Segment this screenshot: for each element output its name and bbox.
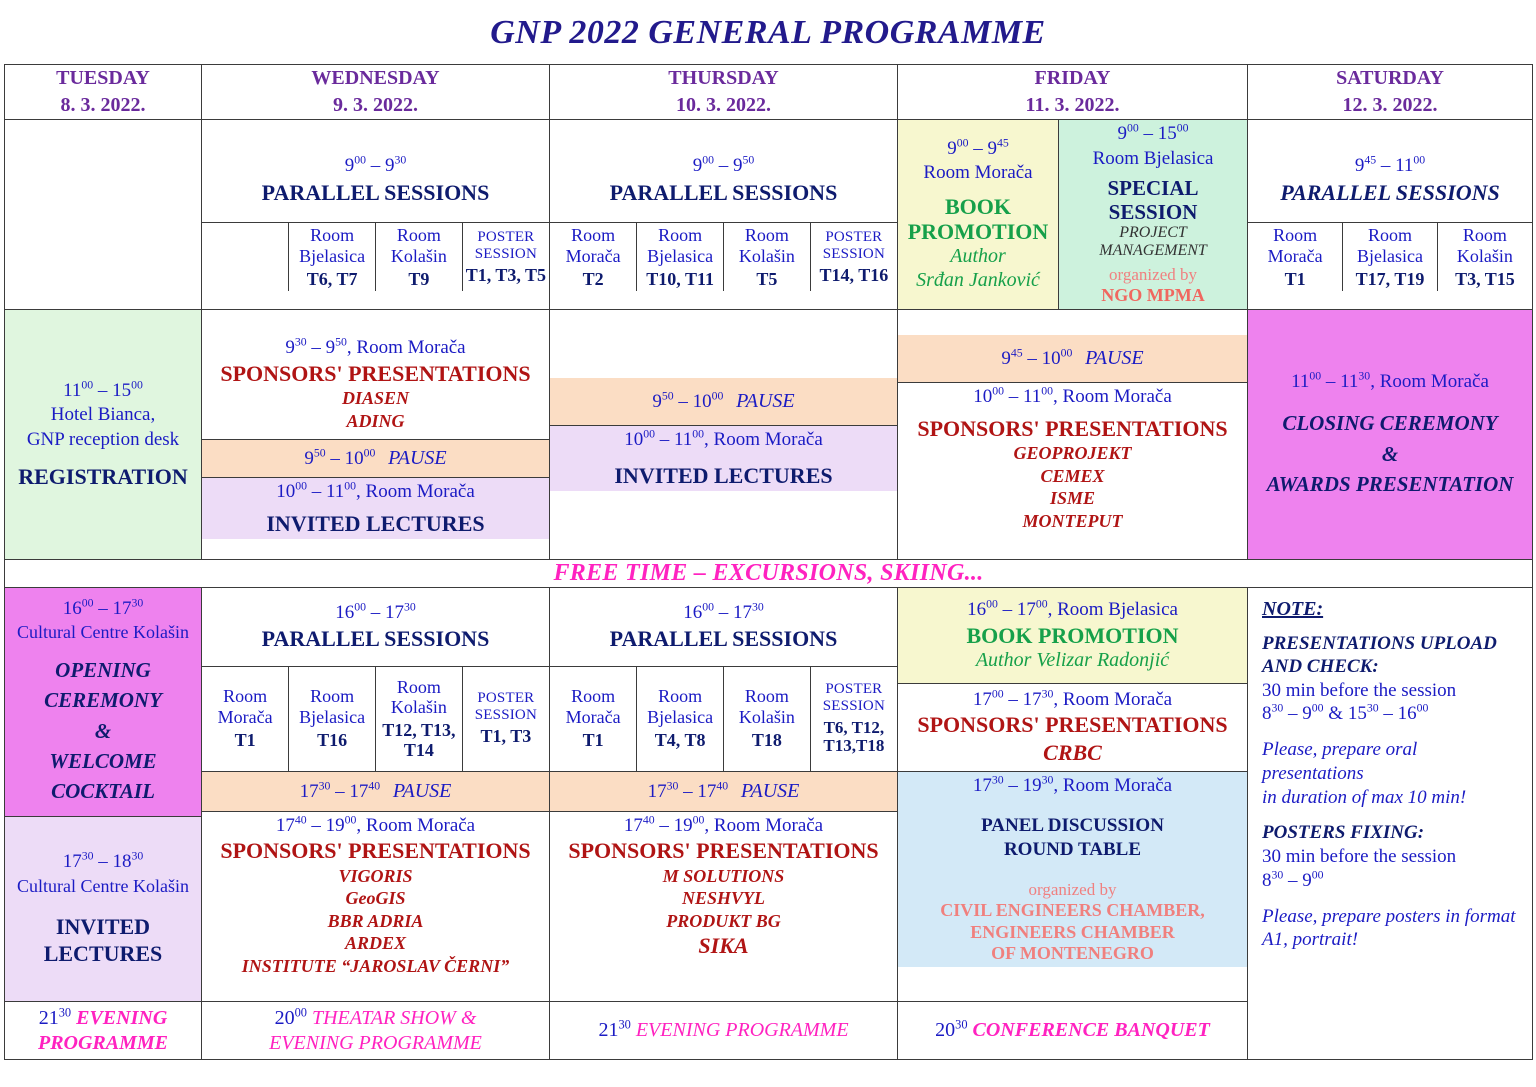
special-session-heading: SPECIAL SESSION <box>1061 176 1245 224</box>
tuesday-registration[interactable]: 1100 – 1500 Hotel Bianca, GNP reception … <box>5 310 202 560</box>
free-time-row: FREE TIME – EXCURSIONS, SKIING... <box>5 560 1533 588</box>
fri-book-promotion-2[interactable]: 1600 – 1700, Room Bjelasica BOOK PROMOTI… <box>898 588 1247 683</box>
topic-codes: T1, T3, T5 <box>465 263 547 286</box>
day-name: TUESDAY <box>5 65 201 92</box>
time-range: 1000 – 1100, Room Morača <box>900 385 1245 410</box>
book-promotion-heading: BOOK PROMOTION <box>900 194 1056 245</box>
topic-codes: T4, T8 <box>639 728 721 751</box>
note-heading-upload: PRESENTATIONS UPLOAD AND CHECK: <box>1262 633 1518 679</box>
thu-sponsors-2[interactable]: 1740 – 1900, Room Morača SPONSORS' PRESE… <box>550 811 897 962</box>
time-range: 1100 – 1130, Room Morača <box>1248 370 1532 395</box>
evening-label-line1: THEATAR SHOW & <box>312 1007 476 1029</box>
tuesday-evening: 2130 EVENING PROGRAMME <box>5 1002 202 1060</box>
day-name: SATURDAY <box>1248 65 1532 92</box>
day-date: 10. 3. 2022. <box>550 92 897 119</box>
topic-codes: T6, T7 <box>291 267 373 290</box>
time-range: 1600 – 1730 <box>204 601 547 626</box>
fri-sponsors-2[interactable]: 1700 – 1730, Room Morača SPONSORS' PRESE… <box>898 683 1247 771</box>
friday-evening: 2030 CONFERENCE BANQUET <box>898 1002 1248 1060</box>
sponsors-heading: SPONSORS' PRESENTATIONS <box>552 838 895 864</box>
time-range: 1600 – 1700, Room Bjelasica <box>900 598 1245 623</box>
thursday-evening: 2130 EVENING PROGRAMME <box>550 1002 898 1060</box>
wed-room-empty <box>202 223 289 292</box>
wed-poster-session[interactable]: POSTER SESSION T1, T3, T5 <box>462 223 549 292</box>
programme-page: GNP 2022 GENERAL PROGRAMME TUESDAY 8. 3.… <box>0 0 1536 1087</box>
day-header-tuesday: TUESDAY 8. 3. 2022. <box>5 65 202 120</box>
time-range: 1730 – 1830 <box>7 850 199 875</box>
wednesday-evening: 2000 THEATAR SHOW & EVENING PROGRAMME <box>202 1002 550 1060</box>
tuesday-opening-ceremony[interactable]: 1600 – 1730 Cultural Centre Kolašin OPEN… <box>5 588 201 816</box>
day-header-thursday: THURSDAY 10. 3. 2022. <box>550 65 898 120</box>
friday-midmorning-block: 945 – 1000 PAUSE 1000 – 1100, Room Morač… <box>898 310 1248 560</box>
day-name: WEDNESDAY <box>202 65 549 92</box>
topic-codes: T16 <box>291 728 373 751</box>
day-name: FRIDAY <box>898 65 1247 92</box>
evening-label: EVENING PROGRAMME <box>636 1019 849 1041</box>
thu-pm-parallel-header: 1600 – 1730 PARALLEL SESSIONS <box>550 588 897 666</box>
evening-label: CONFERENCE BANQUET <box>973 1019 1210 1041</box>
afternoon-row: 1600 – 1730 Cultural Centre Kolašin OPEN… <box>5 588 1533 1002</box>
wed-pm-room-bjelasica[interactable]: Room Bjelasica T16 <box>289 666 376 771</box>
pause-label: PAUSE <box>728 390 795 412</box>
wed-pm-room-moraca[interactable]: Room Morača T1 <box>202 666 289 771</box>
book-author: Author Srđan Janković <box>900 244 1056 292</box>
tuesday-morning-empty <box>5 120 202 310</box>
topic-codes: T9 <box>378 267 460 290</box>
saturday-closing-ceremony[interactable]: 1100 – 1130, Room Morača CLOSING CEREMON… <box>1248 310 1533 560</box>
venue-line2: GNP reception desk <box>5 428 201 453</box>
sat-parallel-header: 945 – 1100 PARALLEL SESSIONS <box>1248 138 1532 223</box>
time-range: 900 – 950 <box>552 154 895 179</box>
fri-pause-1: 945 – 1000 PAUSE <box>898 335 1247 383</box>
topic-codes: T1 <box>204 728 286 751</box>
time-range: 1600 – 1730 <box>552 601 895 626</box>
thu-pm-room-moraca[interactable]: Room Morača T1 <box>550 666 637 771</box>
programme-table: TUESDAY 8. 3. 2022. WEDNESDAY 9. 3. 2022… <box>4 64 1533 1060</box>
topic-codes: T14, T16 <box>813 263 895 286</box>
sponsor-name: SIKA <box>552 932 895 960</box>
sponsor-name: NESHVYL <box>552 887 895 910</box>
note-upload-text: 30 min before the session <box>1262 679 1518 703</box>
wed-parallel-header: 900 – 930 PARALLEL SESSIONS <box>202 138 549 223</box>
topic-codes: T1, T3 <box>465 724 547 747</box>
friday-book-promotion[interactable]: 900 – 945 Room Morača BOOK PROMOTION Aut… <box>898 120 1059 308</box>
session-heading: PARALLEL SESSIONS <box>552 179 895 207</box>
opening-ceremony-text: OPENING CEREMONY & WELCOME COCKTAIL <box>7 655 199 807</box>
room-line2: Bjelasica <box>299 246 365 266</box>
sponsor-name: GEOPROJEKT <box>900 442 1245 465</box>
sponsor-name: ISME <box>900 487 1245 510</box>
day-date: 8. 3. 2022. <box>5 92 201 119</box>
topic-codes: T1 <box>1250 267 1340 290</box>
page-title: GNP 2022 GENERAL PROGRAMME <box>0 0 1536 64</box>
sponsor-name: BBR ADRIA <box>204 910 547 933</box>
wed-invited-lectures[interactable]: 1000 – 1100, Room Morača INVITED LECTURE… <box>202 478 549 540</box>
wed-sponsors-1[interactable]: 930 – 950, Room Morača SPONSORS' PRESENT… <box>202 330 549 440</box>
note-posters-text: 30 min before the session <box>1262 845 1518 869</box>
thu-parallel-header: 900 – 950 PARALLEL SESSIONS <box>550 138 897 223</box>
time-range: 1100 – 1500 <box>5 379 201 404</box>
tuesday-afternoon-block: 1600 – 1730 Cultural Centre Kolašin OPEN… <box>5 588 202 1002</box>
topic-codes: T2 <box>552 267 634 290</box>
registration-heading: REGISTRATION <box>5 463 201 491</box>
topic-codes: T12, T13, T14 <box>378 718 460 761</box>
topic-codes: T5 <box>726 267 808 290</box>
panel-organizer-block: organized by CIVIL ENGINEERS CHAMBER, EN… <box>900 880 1245 965</box>
time-range: 900 – 945 <box>900 137 1056 162</box>
book-author: Author Velizar Radonjić <box>900 648 1245 672</box>
note-heading-posters: POSTERS FIXING: <box>1262 822 1518 845</box>
venue: Room Bjelasica <box>1061 147 1245 172</box>
thu-pause-1: 950 – 1000 PAUSE <box>550 378 897 426</box>
sponsor-name: CEMEX <box>900 465 1245 488</box>
wed-sponsors-2[interactable]: 1740 – 1900, Room Morača SPONSORS' PRESE… <box>202 811 549 979</box>
thu-poster-session[interactable]: POSTER SESSION T14, T16 <box>810 223 897 292</box>
pause-label: PAUSE <box>385 780 452 802</box>
thu-pm-poster-session[interactable]: POSTER SESSION T6, T12, T13,T18 <box>810 666 897 771</box>
sponsor-name: M SOLUTIONS <box>552 865 895 888</box>
saturday-note-block: NOTE: PRESENTATIONS UPLOAD AND CHECK: 30… <box>1248 588 1533 1060</box>
thu-invited-lectures[interactable]: 1000 – 1100, Room Morača INVITED LECTURE… <box>550 426 897 492</box>
sponsor-name: PRODUKT BG <box>552 910 895 933</box>
time-range: 1740 – 1900, Room Morača <box>204 814 547 839</box>
note-title: NOTE: <box>1262 598 1518 621</box>
organizer-block: organized by NGO MPMA <box>1061 265 1245 307</box>
venue: Cultural Centre Kolašin <box>7 875 199 898</box>
sponsors-heading: SPONSORS' PRESENTATIONS <box>900 416 1245 442</box>
thu-room-kolasin[interactable]: Room Kolašin T5 <box>724 223 811 292</box>
mid-morning-row: 1100 – 1500 Hotel Bianca, GNP reception … <box>5 310 1533 560</box>
thu-pm-room-kolasin[interactable]: Room Kolašin T18 <box>724 666 811 771</box>
topic-codes: T1 <box>552 728 634 751</box>
wed-room-bjelasica[interactable]: Room Bjelasica T6, T7 <box>289 223 376 292</box>
time-range: 930 – 950, Room Morača <box>204 336 547 361</box>
venue-line1: Hotel Bianca, <box>5 403 201 428</box>
invited-lectures-heading: INVITED LECTURES <box>552 463 895 489</box>
topic-codes: T6, T12, T13,T18 <box>813 716 895 756</box>
time-range: 945 – 1100 <box>1250 154 1530 179</box>
thu-room-moraca[interactable]: Room Morača T2 <box>550 223 637 292</box>
day-date: 12. 3. 2022. <box>1248 92 1532 119</box>
sat-room-bjelasica[interactable]: Room Bjelasica T17, T19 <box>1343 223 1438 292</box>
sponsor-name: DIASEN <box>204 387 547 410</box>
session-heading: PARALLEL SESSIONS <box>204 179 547 207</box>
invited-lectures-heading: INVITED LECTURES <box>204 511 547 537</box>
thu-pause-2: 1730 – 1740 PAUSE <box>550 771 897 811</box>
sponsor-name: ARDEX <box>204 932 547 955</box>
organizer-name-line3: OF MONTENEGRO <box>900 943 1245 965</box>
wed-pm-poster-session[interactable]: POSTER SESSION T1, T3 <box>462 666 549 771</box>
sponsor-name: ADING <box>204 410 547 433</box>
day-header-friday: FRIDAY 11. 3. 2022. <box>898 65 1248 120</box>
day-header-saturday: SATURDAY 12. 3. 2022. <box>1248 65 1533 120</box>
organizer-name-line1: CIVIL ENGINEERS CHAMBER, <box>900 900 1245 922</box>
panel-heading: PANEL DISCUSSION ROUND TABLE <box>900 814 1245 862</box>
wed-pause-1: 950 – 1000 PAUSE <box>202 440 549 478</box>
thu-pm-room-bjelasica[interactable]: Room Bjelasica T4, T8 <box>637 666 724 771</box>
time-range: 1600 – 1730 <box>7 597 199 622</box>
sponsor-name: INSTITUTE “JAROSLAV ČERNI” <box>204 955 547 978</box>
friday-morning-block: 900 – 945 Room Morača BOOK PROMOTION Aut… <box>898 120 1248 310</box>
day-date: 9. 3. 2022. <box>202 92 549 119</box>
pause-label: PAUSE <box>380 447 447 469</box>
sponsor-name: VIGORIS <box>204 865 547 888</box>
thursday-morning-block: 900 – 950 PARALLEL SESSIONS Room Morača … <box>550 120 898 310</box>
wed-pm-room-kolasin[interactable]: Room Kolašin T12, T13, T14 <box>376 666 463 771</box>
organizer-name-line2: ENGINEERS CHAMBER <box>900 922 1245 944</box>
day-header-wednesday: WEDNESDAY 9. 3. 2022. <box>202 65 550 120</box>
sat-room-moraca[interactable]: Room Morača T1 <box>1248 223 1343 292</box>
session-heading: PARALLEL SESSIONS <box>204 625 547 653</box>
note-upload-times: 830 – 900 & 1530 – 1600 <box>1262 702 1518 726</box>
note-posters-times: 830 – 900 <box>1262 869 1518 893</box>
evening-label-line2: EVENING PROGRAMME <box>269 1032 482 1054</box>
topic-codes: T10, T11 <box>639 267 721 290</box>
session-heading: PARALLEL SESSIONS <box>1250 179 1530 207</box>
pause-label: PAUSE <box>1077 347 1144 369</box>
sponsors-heading: SPONSORS' PRESENTATIONS <box>204 361 547 387</box>
sponsor-name: MONTEPUT <box>900 510 1245 533</box>
day-name: THURSDAY <box>550 65 897 92</box>
wed-room-kolasin[interactable]: Room Kolašin T9 <box>376 223 463 292</box>
topic-codes: T3, T15 <box>1440 267 1530 290</box>
time-range: 1730 – 1930, Room Morača <box>900 774 1245 799</box>
sponsor-name: CRBC <box>900 739 1245 767</box>
time-range: 1700 – 1730, Room Morača <box>900 688 1245 713</box>
pause-label: PAUSE <box>733 780 800 802</box>
note-oral-instruction: Please, prepare oral presentations in du… <box>1262 738 1518 809</box>
venue: Cultural Centre Kolašin <box>7 621 199 644</box>
organizer-name: NGO MPMA <box>1101 285 1204 305</box>
special-session-topic: PROJECT MANAGEMENT <box>1061 224 1245 261</box>
friday-special-session[interactable]: 900 – 1500 Room Bjelasica SPECIAL SESSIO… <box>1059 120 1247 308</box>
time-range: 1000 – 1100, Room Morača <box>552 428 895 453</box>
sponsors-heading: SPONSORS' PRESENTATIONS <box>900 712 1245 738</box>
topic-codes: T18 <box>726 728 808 751</box>
time-range: 900 – 930 <box>204 154 547 179</box>
sponsor-name: GeoGIS <box>204 887 547 910</box>
wednesday-morning-block: 900 – 930 PARALLEL SESSIONS Room Bjelasi… <box>202 120 550 310</box>
wed-pm-parallel-header: 1600 – 1730 PARALLEL SESSIONS <box>202 588 549 666</box>
wednesday-afternoon-block: 1600 – 1730 PARALLEL SESSIONS Room Morač… <box>202 588 550 1002</box>
invited-lectures-heading: INVITED LECTURES <box>7 914 199 967</box>
free-time-banner: FREE TIME – EXCURSIONS, SKIING... <box>5 560 1533 588</box>
venue: Room Morača <box>900 161 1056 186</box>
friday-afternoon-block: 1600 – 1700, Room Bjelasica BOOK PROMOTI… <box>898 588 1248 1002</box>
tuesday-invited-lectures[interactable]: 1730 – 1830 Cultural Centre Kolašin INVI… <box>5 816 201 1001</box>
thursday-midmorning-block: 950 – 1000 PAUSE 1000 – 1100, Room Morač… <box>550 310 898 560</box>
sponsors-heading: SPONSORS' PRESENTATIONS <box>204 838 547 864</box>
sat-room-kolasin[interactable]: Room Kolašin T3, T15 <box>1437 223 1532 292</box>
saturday-morning-block: 945 – 1100 PARALLEL SESSIONS Room Morača… <box>1248 120 1533 310</box>
time-range: 1740 – 1900, Room Morača <box>552 814 895 839</box>
time-range: 900 – 1500 <box>1061 122 1245 147</box>
fri-sponsors-1[interactable]: 1000 – 1100, Room Morača SPONSORS' PRESE… <box>898 383 1247 535</box>
book-promotion-heading: BOOK PROMOTION <box>900 623 1245 648</box>
day-header-row: TUESDAY 8. 3. 2022. WEDNESDAY 9. 3. 2022… <box>5 65 1533 120</box>
note-poster-instruction: Please, prepare posters in format A1, po… <box>1262 905 1518 953</box>
room-line1: Room <box>310 225 354 245</box>
thu-room-bjelasica[interactable]: Room Bjelasica T10, T11 <box>637 223 724 292</box>
wed-pause-2: 1730 – 1740 PAUSE <box>202 771 549 811</box>
session-heading: PARALLEL SESSIONS <box>552 625 895 653</box>
time-range: 1000 – 1100, Room Morača <box>204 480 547 505</box>
day-date: 11. 3. 2022. <box>898 92 1247 119</box>
wednesday-midmorning-block: 930 – 950, Room Morača SPONSORS' PRESENT… <box>202 310 550 560</box>
thursday-afternoon-block: 1600 – 1730 PARALLEL SESSIONS Room Morač… <box>550 588 898 1002</box>
morning-sessions-row: 900 – 930 PARALLEL SESSIONS Room Bjelasi… <box>5 120 1533 310</box>
closing-ceremony-text: CLOSING CEREMONY & AWARDS PRESENTATION <box>1248 408 1532 499</box>
fri-panel-discussion[interactable]: 1730 – 1930, Room Morača PANEL DISCUSSIO… <box>898 771 1247 967</box>
topic-codes: T17, T19 <box>1345 267 1435 290</box>
